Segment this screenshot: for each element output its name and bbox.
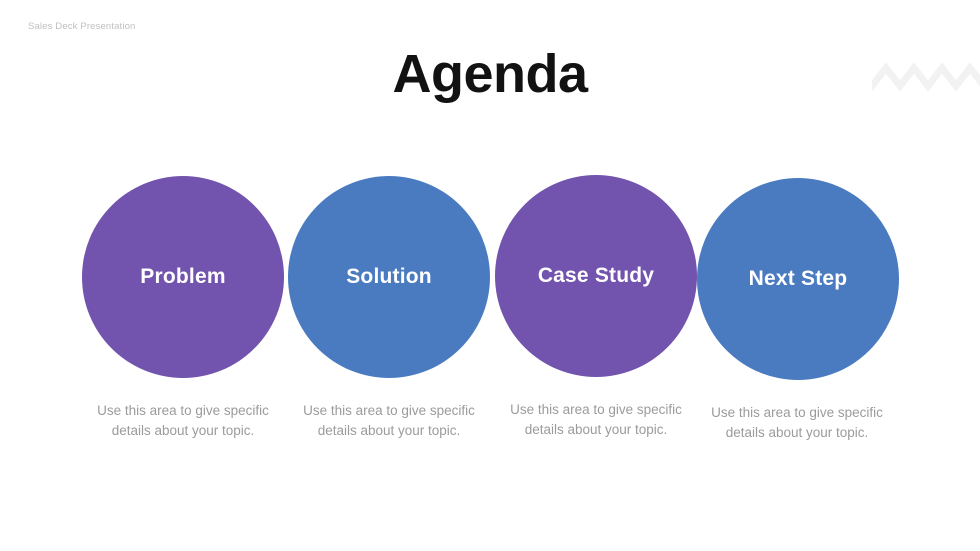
agenda-circle-label-4: Next Step [749, 267, 848, 291]
agenda-caption-1: Use this area to give specific details a… [90, 401, 276, 440]
agenda-item-next-step[interactable]: Next Step [697, 178, 899, 380]
agenda-caption-3: Use this area to give specific details a… [503, 400, 689, 439]
agenda-item-problem[interactable]: Problem [82, 176, 284, 378]
agenda-circle-label-2: Solution [346, 265, 432, 289]
agenda-circle-2[interactable]: Solution [288, 176, 490, 378]
agenda-circle-3[interactable]: Case Study [495, 175, 697, 377]
agenda-caption-4: Use this area to give specific details a… [704, 403, 890, 442]
agenda-item-solution[interactable]: Solution [288, 176, 490, 378]
agenda-circle-4[interactable]: Next Step [697, 178, 899, 380]
agenda-circle-label-1: Problem [140, 265, 225, 289]
agenda-circle-1[interactable]: Problem [82, 176, 284, 378]
slide-header-label: Sales Deck Presentation [28, 21, 135, 32]
slide-canvas: Sales Deck Presentation Agenda Problem S… [0, 0, 980, 551]
agenda-item-case-study[interactable]: Case Study [495, 175, 697, 377]
agenda-circle-label-3: Case Study [538, 264, 654, 288]
agenda-caption-2: Use this area to give specific details a… [296, 401, 482, 440]
page-title: Agenda [0, 44, 980, 104]
agenda-circles-row: Problem Solution Case Study Next Step [0, 176, 980, 378]
